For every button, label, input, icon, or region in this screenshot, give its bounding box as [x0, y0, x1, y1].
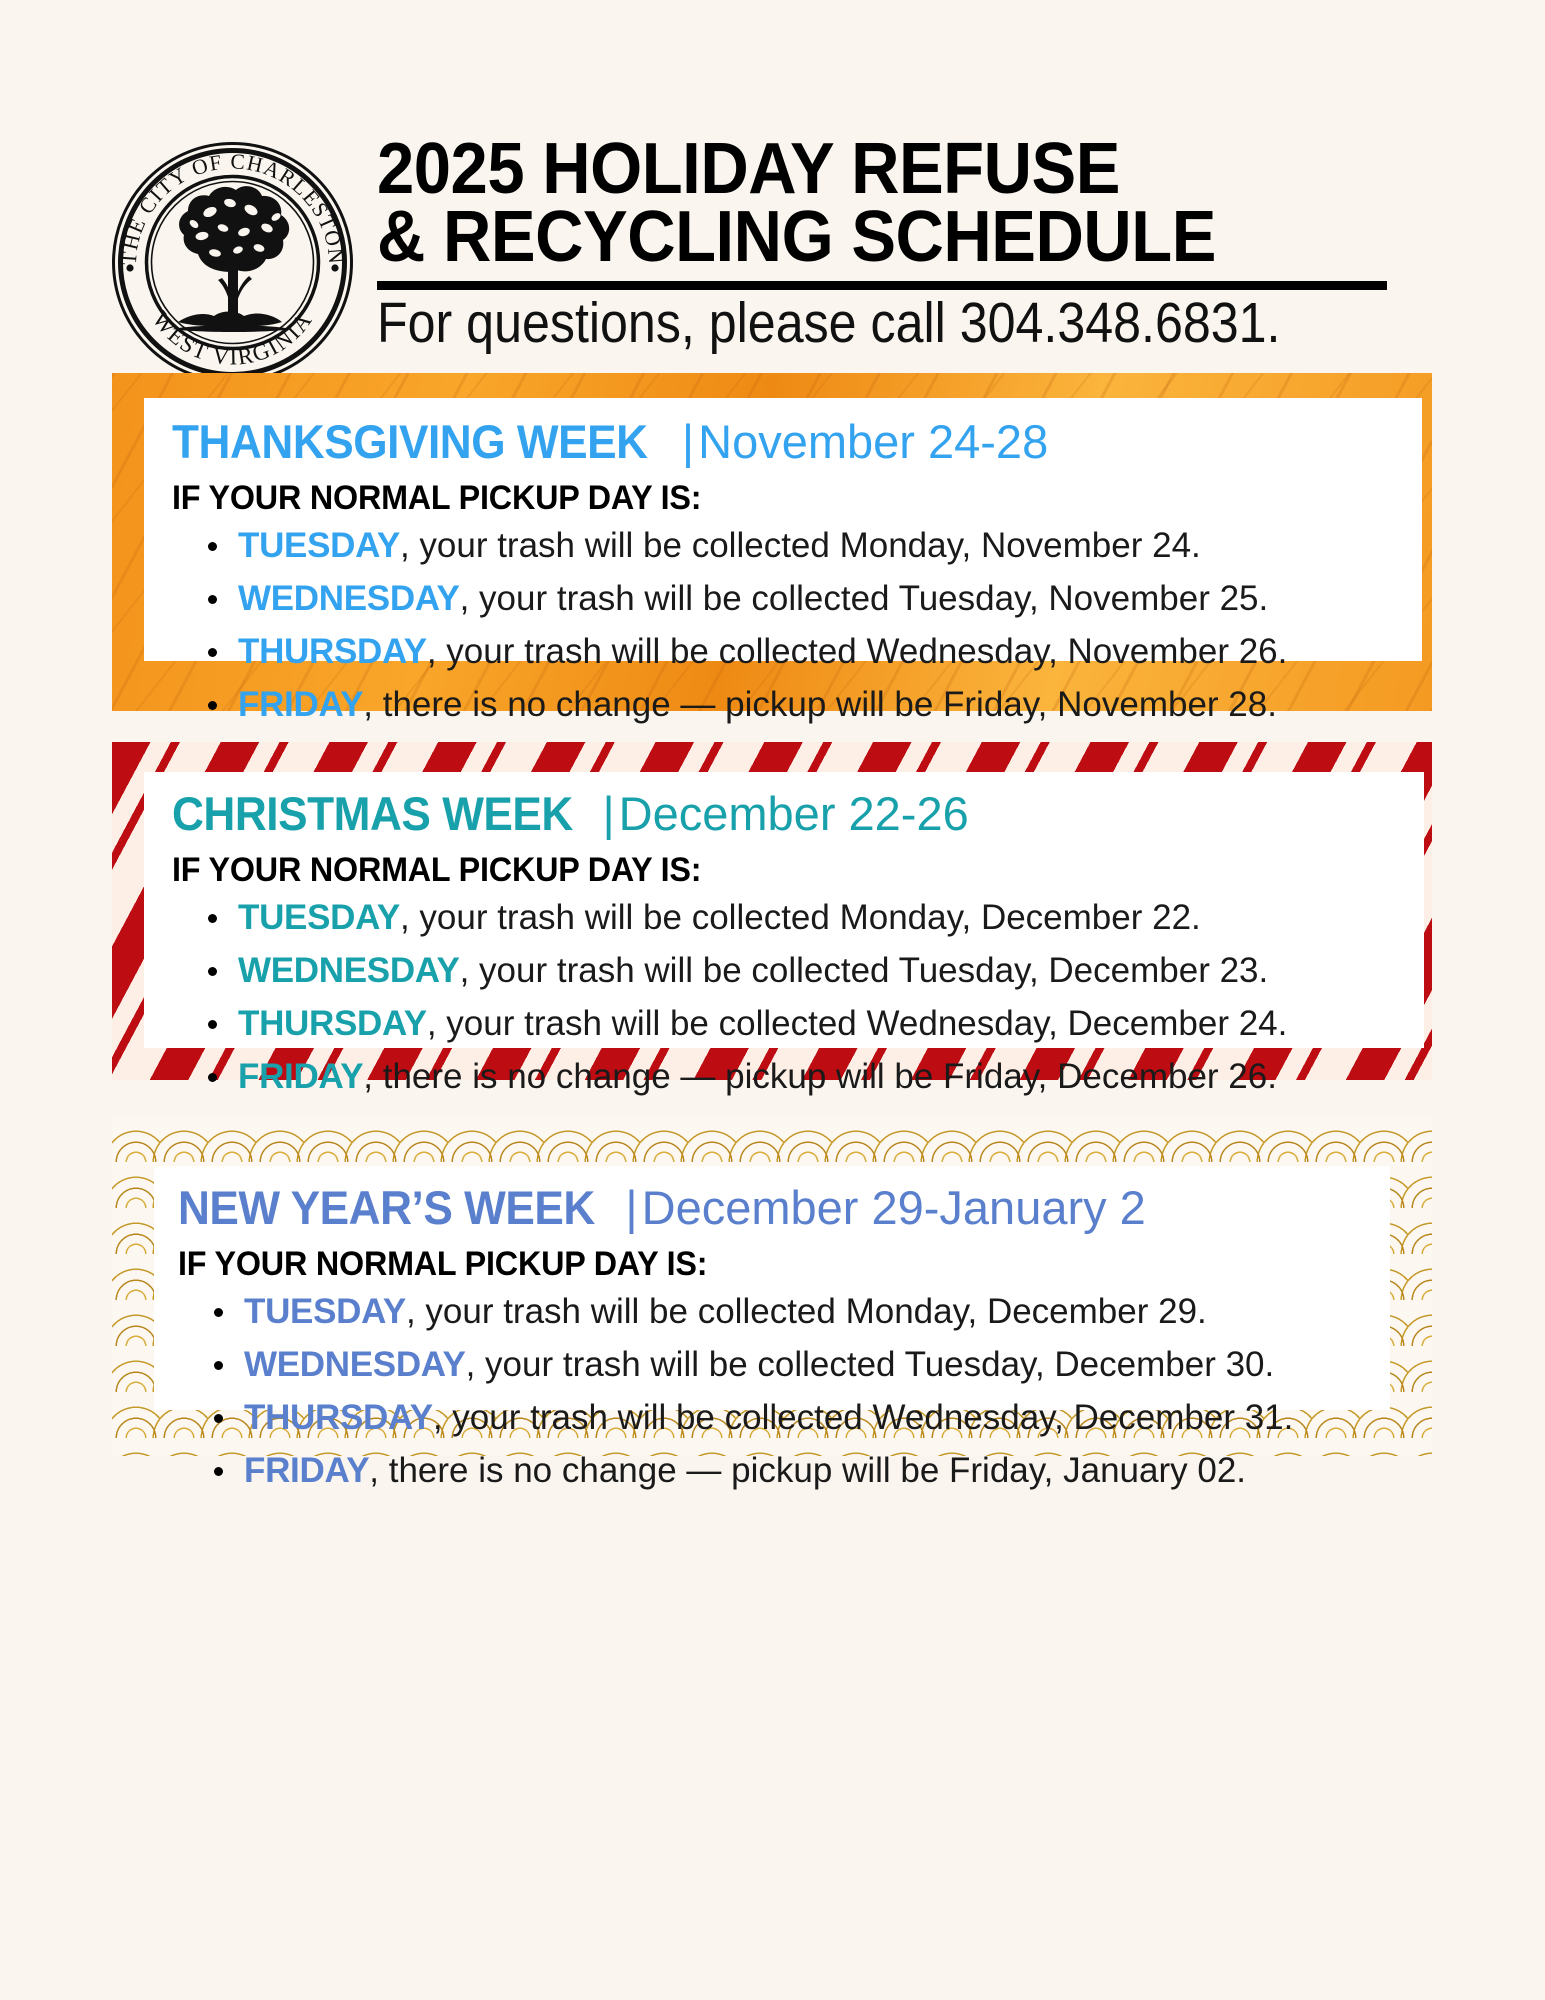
section-dates: December 29-January 2	[642, 1181, 1146, 1234]
oak-tree-icon	[172, 186, 292, 332]
bullet-icon	[214, 1414, 223, 1423]
day-label: THURSDAY	[244, 1398, 433, 1437]
bullet-icon	[208, 914, 217, 923]
bullet-icon	[208, 648, 217, 657]
list-item: FRIDAY, there is no change — pickup will…	[178, 1453, 1368, 1488]
page-title-line-2: & RECYCLING SCHEDULE	[377, 204, 1356, 272]
section-name: NEW YEAR’S WEEK	[178, 1184, 595, 1231]
pickup-prompt-label: IF YOUR NORMAL PICKUP DAY IS:	[172, 479, 1335, 518]
day-label: TUESDAY	[238, 898, 400, 937]
section-heading-christmas: CHRISTMAS WEEK|December 22-26	[172, 790, 1398, 837]
list-item: WEDNESDAY, your trash will be collected …	[172, 581, 1396, 616]
day-description: , your trash will be collected Monday, D…	[406, 1292, 1207, 1331]
day-description: , your trash will be collected Tuesday, …	[466, 1345, 1275, 1384]
list-item: TUESDAY, your trash will be collected Mo…	[172, 528, 1396, 563]
bullet-icon	[208, 701, 217, 710]
bullet-icon	[208, 967, 217, 976]
pickup-list-new-years: TUESDAY, your trash will be collected Mo…	[178, 1294, 1368, 1488]
list-item: TUESDAY, your trash will be collected Mo…	[172, 900, 1398, 935]
candy-cane-border: CHRISTMAS WEEK|December 22-26 IF YOUR NO…	[112, 742, 1432, 1080]
autumn-leaves-border: THANKSGIVING WEEK|November 24-28 IF YOUR…	[112, 373, 1432, 711]
header-text-block: 2025 HOLIDAY REFUSE & RECYCLING SCHEDULE…	[377, 132, 1430, 354]
section-name: THANKSGIVING WEEK	[172, 418, 648, 465]
list-item: FRIDAY, there is no change — pickup will…	[172, 1059, 1398, 1094]
section-dates: December 22-26	[619, 787, 969, 840]
bullet-icon	[208, 1020, 217, 1029]
day-label: WEDNESDAY	[238, 951, 460, 990]
day-description: , your trash will be collected Tuesday, …	[460, 951, 1269, 990]
day-label: WEDNESDAY	[238, 579, 460, 618]
title-divider-rule	[377, 281, 1387, 290]
heading-divider: |	[598, 787, 618, 840]
day-label: TUESDAY	[238, 526, 400, 565]
day-label: TUESDAY	[244, 1292, 406, 1331]
day-description: , your trash will be collected Monday, N…	[400, 526, 1201, 565]
day-description: , there is no change — pickup will be Fr…	[363, 1057, 1277, 1096]
day-description: , your trash will be collected Wednesday…	[433, 1398, 1294, 1437]
gold-scallop-border: NEW YEAR’S WEEK|December 29-January 2 IF…	[112, 1116, 1432, 1456]
contact-subtitle: For questions, please call 304.348.6831.	[377, 294, 1304, 354]
list-item: THURSDAY, your trash will be collected W…	[172, 1006, 1398, 1041]
day-label: FRIDAY	[238, 685, 363, 724]
section-heading-new-years: NEW YEAR’S WEEK|December 29-January 2	[178, 1184, 1368, 1231]
section-content-new-years: NEW YEAR’S WEEK|December 29-January 2 IF…	[154, 1166, 1390, 1410]
city-seal-logo: THE CITY OF CHARLESTON WEST VIRGINIA	[110, 140, 355, 385]
day-description: , your trash will be collected Wednesday…	[427, 1004, 1288, 1043]
pickup-prompt-label: IF YOUR NORMAL PICKUP DAY IS:	[178, 1245, 1309, 1284]
header: THE CITY OF CHARLESTON WEST VIRGINIA	[110, 132, 1430, 402]
section-new-years: NEW YEAR’S WEEK|December 29-January 2 IF…	[112, 1116, 1432, 1456]
day-label: WEDNESDAY	[244, 1345, 466, 1384]
heading-divider: |	[678, 415, 698, 468]
bullet-icon	[208, 595, 217, 604]
day-description: , your trash will be collected Wednesday…	[427, 632, 1288, 671]
section-content-thanksgiving: THANKSGIVING WEEK|November 24-28 IF YOUR…	[144, 398, 1422, 661]
day-description: , your trash will be collected Monday, D…	[400, 898, 1201, 937]
page-title-line-1: 2025 HOLIDAY REFUSE	[377, 136, 1356, 204]
list-item: THURSDAY, your trash will be collected W…	[178, 1400, 1368, 1435]
section-name: CHRISTMAS WEEK	[172, 790, 573, 837]
bullet-icon	[214, 1467, 223, 1476]
pickup-list-christmas: TUESDAY, your trash will be collected Mo…	[172, 900, 1398, 1094]
section-content-christmas: CHRISTMAS WEEK|December 22-26 IF YOUR NO…	[144, 772, 1424, 1048]
bullet-icon	[214, 1361, 223, 1370]
day-label: THURSDAY	[238, 1004, 427, 1043]
pickup-prompt-label: IF YOUR NORMAL PICKUP DAY IS:	[172, 851, 1337, 890]
flyer-page: THE CITY OF CHARLESTON WEST VIRGINIA	[0, 0, 1545, 2000]
list-item: FRIDAY, there is no change — pickup will…	[172, 687, 1396, 722]
day-label: FRIDAY	[244, 1451, 369, 1490]
list-item: WEDNESDAY, your trash will be collected …	[178, 1347, 1368, 1382]
list-item: TUESDAY, your trash will be collected Mo…	[178, 1294, 1368, 1329]
section-dates: November 24-28	[698, 415, 1048, 468]
list-item: THURSDAY, your trash will be collected W…	[172, 634, 1396, 669]
list-item: WEDNESDAY, your trash will be collected …	[172, 953, 1398, 988]
bullet-icon	[214, 1308, 223, 1317]
day-description: , there is no change — pickup will be Fr…	[369, 1451, 1246, 1490]
section-thanksgiving: THANKSGIVING WEEK|November 24-28 IF YOUR…	[112, 373, 1432, 711]
day-description: , your trash will be collected Tuesday, …	[460, 579, 1269, 618]
section-christmas: CHRISTMAS WEEK|December 22-26 IF YOUR NO…	[112, 742, 1432, 1080]
pickup-list-thanksgiving: TUESDAY, your trash will be collected Mo…	[172, 528, 1396, 722]
day-label: FRIDAY	[238, 1057, 363, 1096]
day-description: , there is no change — pickup will be Fr…	[363, 685, 1277, 724]
bullet-icon	[208, 542, 217, 551]
section-heading-thanksgiving: THANKSGIVING WEEK|November 24-28	[172, 418, 1396, 465]
bullet-icon	[208, 1073, 217, 1082]
heading-divider: |	[621, 1181, 641, 1234]
day-label: THURSDAY	[238, 632, 427, 671]
